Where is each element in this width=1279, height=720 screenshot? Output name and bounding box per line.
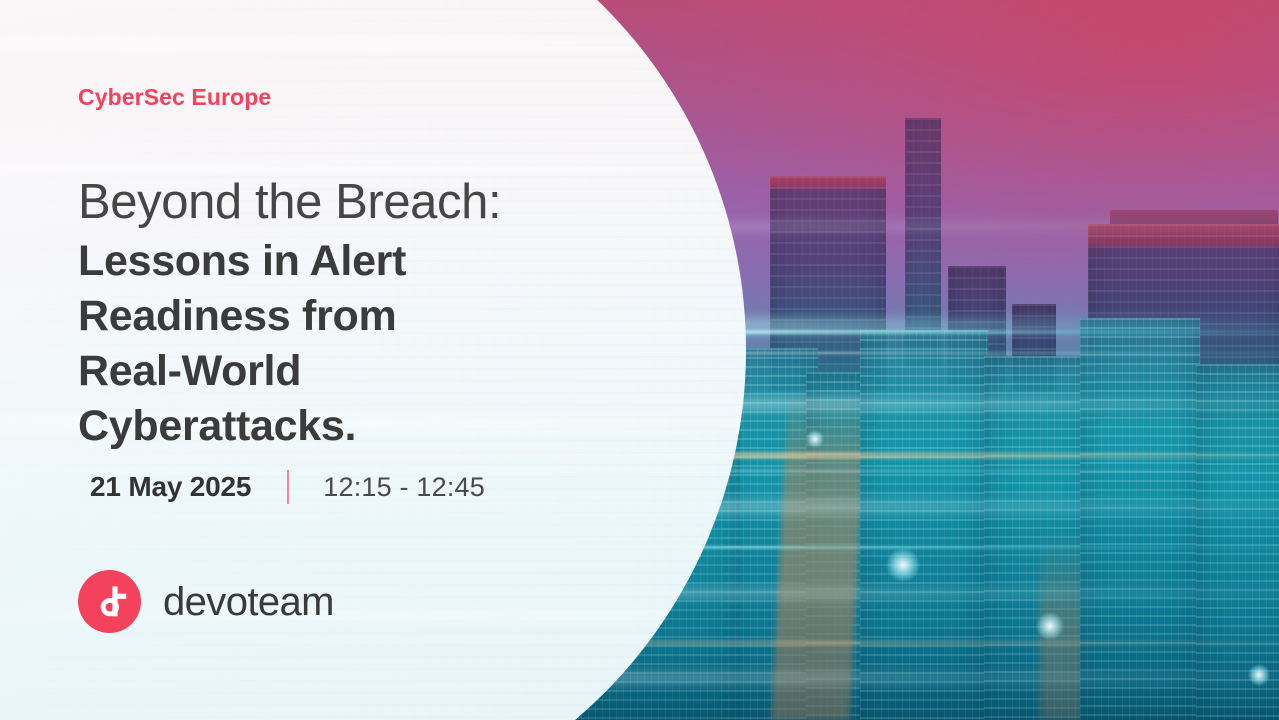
session-title-line-4: Real-World xyxy=(78,344,658,399)
event-name-eyebrow: CyberSec Europe xyxy=(78,84,271,111)
schedule-divider xyxy=(287,470,289,504)
session-date: 21 May 2025 xyxy=(90,471,251,503)
session-schedule: 21 May 2025 12:15 - 12:45 xyxy=(90,466,485,508)
event-banner: CyberSec Europe Beyond the Breach: Lesso… xyxy=(0,0,1279,720)
session-title-line-2: Lessons in Alert xyxy=(78,234,658,289)
devoteam-wordmark: devoteam xyxy=(163,582,334,622)
banner-content: CyberSec Europe Beyond the Breach: Lesso… xyxy=(78,0,698,720)
session-title-line-1: Beyond the Breach: xyxy=(78,178,658,227)
session-title-line-5: Cyberattacks. xyxy=(78,399,658,454)
devoteam-logo-mark-icon xyxy=(78,570,141,633)
session-time: 12:15 - 12:45 xyxy=(323,472,485,503)
devoteam-logo: devoteam xyxy=(78,570,334,633)
session-title: Beyond the Breach: Lessons in Alert Read… xyxy=(78,178,658,454)
session-title-line-3: Readiness from xyxy=(78,289,658,344)
